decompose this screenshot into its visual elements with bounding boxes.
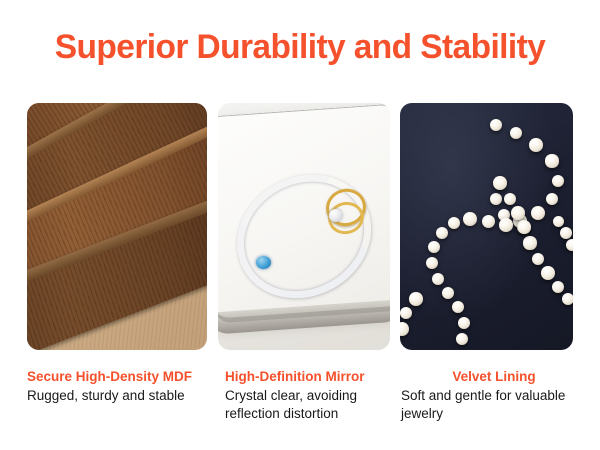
page-title: Superior Durability and Stability	[5, 28, 596, 66]
feature-image-row	[0, 103, 600, 350]
pearl	[562, 293, 573, 305]
pearl	[529, 138, 543, 152]
feature-caption-velvet: Velvet Lining Soft and gentle for valuab…	[401, 368, 587, 423]
feature-caption-mirror: High-Definition Mirror Crystal clear, av…	[225, 368, 400, 423]
caption-body: Rugged, sturdy and stable	[27, 387, 213, 405]
pearl	[545, 154, 558, 167]
feature-image-mdf	[27, 103, 207, 350]
caption-body: Soft and gentle for valuable jewelry	[401, 387, 587, 423]
pearl	[493, 176, 506, 189]
pearl	[560, 227, 572, 239]
caption-title: Velvet Lining	[401, 368, 587, 386]
caption-title: Secure High-Density MDF	[27, 368, 213, 386]
pearl	[566, 239, 573, 251]
feature-caption-mdf: Secure High-Density MDF Rugged, sturdy a…	[27, 368, 213, 405]
pearl	[504, 193, 516, 205]
blue-gemstone	[256, 256, 271, 269]
feature-banner: Superior Durability and Stability	[0, 0, 600, 450]
pearl	[523, 236, 536, 249]
pearl	[482, 215, 495, 228]
feature-image-velvet	[400, 103, 573, 350]
pearl	[553, 216, 564, 227]
pearl	[428, 241, 440, 253]
caption-title: High-Definition Mirror	[225, 368, 400, 386]
pearl	[409, 292, 423, 306]
pearl	[518, 221, 531, 234]
pearl	[463, 212, 477, 226]
pearl	[511, 206, 525, 220]
caption-body: Crystal clear, avoiding reflection disto…	[225, 387, 400, 423]
feature-image-mirror	[218, 103, 390, 350]
pearl	[499, 218, 513, 232]
pearl	[531, 206, 545, 220]
pearl	[541, 266, 555, 280]
